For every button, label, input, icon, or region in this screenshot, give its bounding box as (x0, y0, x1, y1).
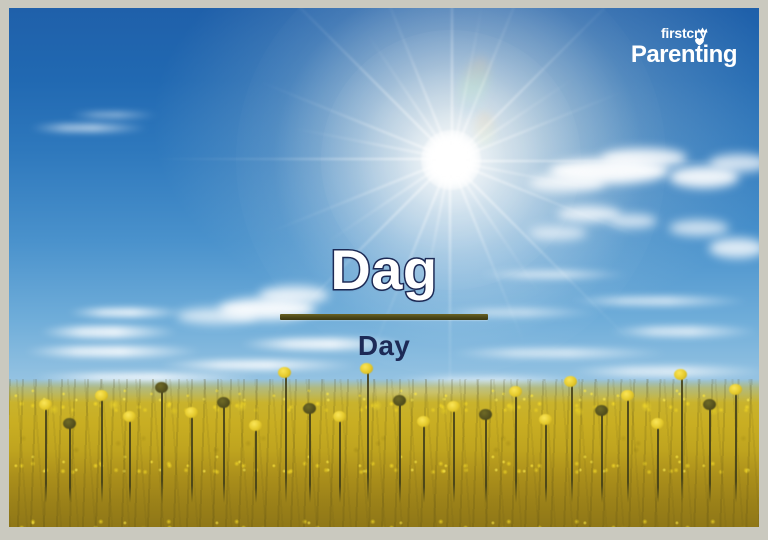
crown-icon (697, 27, 708, 33)
cloud-shape (669, 220, 729, 236)
brand-logo-parenting-text: Parenting (631, 41, 737, 68)
brand-logo[interactable]: firstcry Parenting (631, 26, 737, 67)
photo-canvas: Dag Day firstcry Parenting (9, 8, 759, 527)
heart-icon (695, 38, 704, 46)
divider (280, 314, 488, 320)
image-frame: Dag Day firstcry Parenting (0, 0, 768, 540)
brand-logo-parenting: Parenting (631, 43, 737, 67)
lens-flare (475, 112, 495, 146)
field-stems (9, 379, 759, 527)
text-overlay: Dag Day (9, 240, 759, 362)
cloud-shape (69, 112, 159, 118)
cloud-shape (569, 366, 759, 377)
word-translation: Day (9, 330, 759, 362)
cloud-shape (29, 124, 149, 132)
word-main: Dag (9, 240, 759, 300)
